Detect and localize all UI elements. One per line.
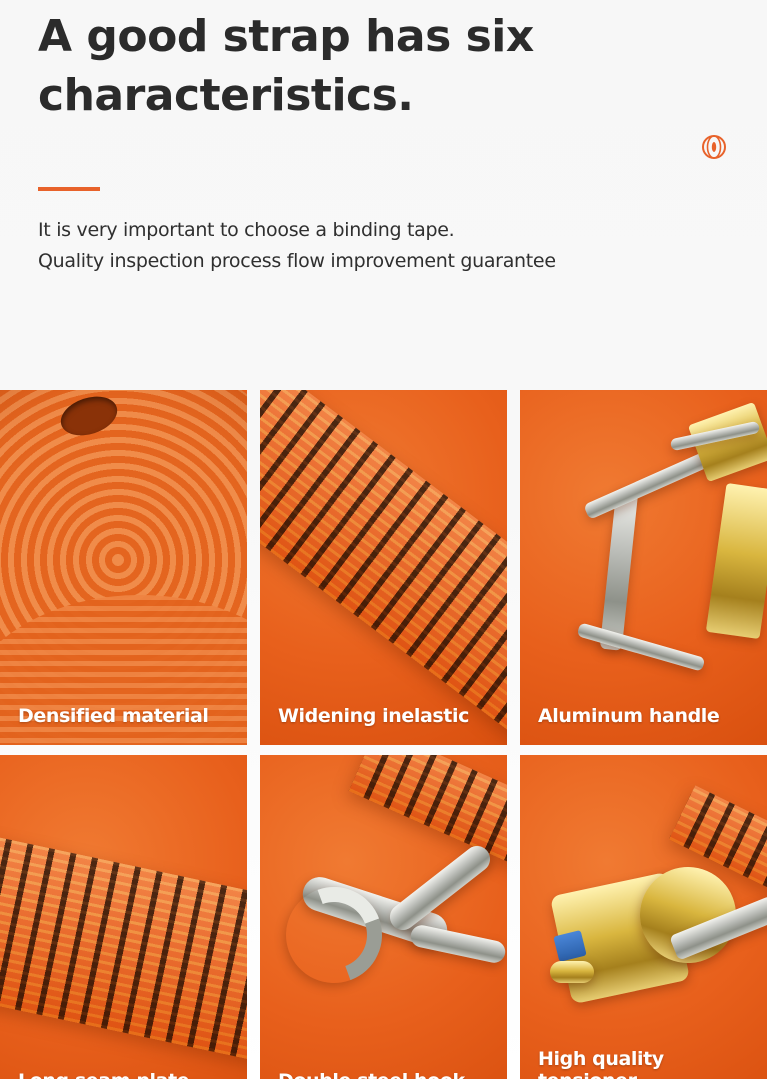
subtitle-block: It is very important to choose a binding…	[38, 215, 729, 277]
feature-card[interactable]: Widening inelastic	[260, 390, 507, 745]
diagonal-strap-image	[260, 390, 507, 745]
steel-hook-image	[260, 755, 507, 1079]
feature-grid: Densified material Widening inelastic Al…	[0, 390, 767, 1079]
feature-card[interactable]: High quality tensioner	[520, 755, 767, 1079]
feature-card[interactable]: Aluminum handle	[520, 390, 767, 745]
subtitle-line-2: Quality inspection process flow improvem…	[38, 246, 729, 277]
feature-caption: Long seam plate	[18, 1070, 237, 1079]
feature-caption: Densified material	[18, 705, 237, 727]
accent-divider	[38, 187, 100, 191]
feature-caption: High quality tensioner	[538, 1048, 757, 1079]
feature-caption: Widening inelastic	[278, 705, 497, 727]
aluminum-handle-image	[520, 390, 767, 745]
feature-card[interactable]: Densified material	[0, 390, 247, 745]
page-root: A good strap has six characteristics. It…	[0, 0, 767, 1079]
strap-roll-icon	[701, 134, 727, 160]
page-title: A good strap has six characteristics.	[38, 0, 678, 125]
feature-card[interactable]: Double steel hook	[260, 755, 507, 1079]
orange-webbing-coil-image	[0, 390, 247, 745]
subtitle-line-1: It is very important to choose a binding…	[38, 215, 729, 246]
seam-plate-image	[0, 755, 247, 1079]
header-section: A good strap has six characteristics. It…	[0, 0, 767, 382]
ratchet-tensioner-image	[520, 755, 767, 1079]
feature-card[interactable]: Long seam plate	[0, 755, 247, 1079]
feature-caption: Aluminum handle	[538, 705, 757, 727]
feature-caption: Double steel hook	[278, 1070, 497, 1079]
